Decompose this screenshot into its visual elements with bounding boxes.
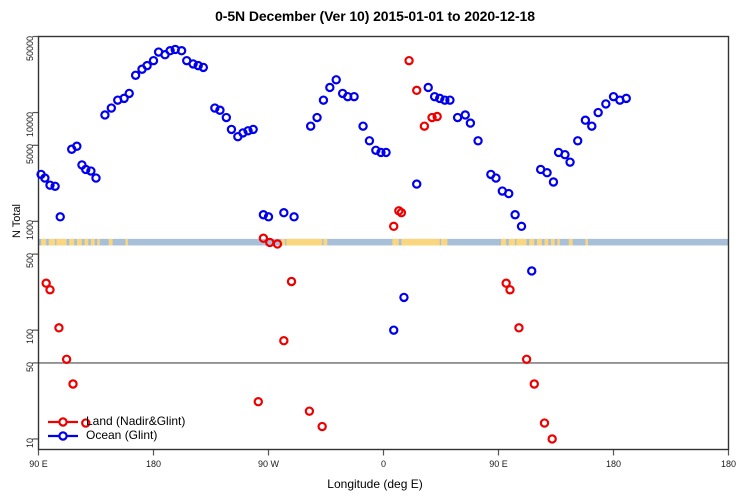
- data-point: [290, 213, 297, 220]
- data-point: [223, 114, 230, 121]
- data-point: [425, 84, 432, 91]
- x-tick-label: 90 E: [469, 459, 529, 469]
- data-point: [108, 104, 115, 111]
- data-point: [561, 151, 568, 158]
- y-tick-label: 5000: [25, 144, 35, 180]
- data-point: [549, 435, 556, 442]
- data-point: [200, 64, 207, 71]
- data-point: [623, 95, 630, 102]
- data-point: [255, 398, 262, 405]
- data-point: [454, 114, 461, 121]
- data-point: [515, 324, 522, 331]
- data-point: [434, 113, 441, 120]
- y-tick-label: 100: [25, 329, 35, 365]
- chart-legend: [48, 418, 78, 439]
- data-point: [505, 190, 512, 197]
- data-point: [574, 137, 581, 144]
- data-point: [87, 167, 94, 174]
- data-point: [351, 93, 358, 100]
- data-point: [52, 183, 59, 190]
- data-point: [390, 327, 397, 334]
- data-point: [400, 294, 407, 301]
- legend-marker: [59, 432, 66, 439]
- data-point: [313, 114, 320, 121]
- data-point: [250, 126, 257, 133]
- data-point: [446, 97, 453, 104]
- data-point: [528, 267, 535, 274]
- y-tick-label: 1000: [25, 220, 35, 256]
- data-point: [462, 111, 469, 118]
- data-point: [228, 126, 235, 133]
- data-point: [265, 213, 272, 220]
- data-point: [288, 278, 295, 285]
- data-point: [382, 149, 389, 156]
- data-point: [359, 123, 366, 130]
- data-point: [390, 223, 397, 230]
- data-point: [541, 419, 548, 426]
- data-point: [582, 117, 589, 124]
- x-tick-label: 180: [699, 459, 750, 469]
- data-point: [523, 356, 530, 363]
- legend-marker: [59, 418, 66, 425]
- data-point: [518, 223, 525, 230]
- y-tick-label: 50000: [25, 36, 35, 72]
- x-tick-label: 180: [584, 459, 644, 469]
- data-point: [531, 380, 538, 387]
- legend-entry-label: Land (Nadir&Glint): [86, 414, 185, 428]
- data-point: [216, 107, 223, 114]
- data-point: [405, 57, 412, 64]
- data-point: [280, 209, 287, 216]
- data-point: [602, 100, 609, 107]
- x-tick-label: 180: [124, 459, 184, 469]
- data-point: [150, 57, 157, 64]
- y-tick-label: 10000: [25, 112, 35, 148]
- data-point: [595, 109, 602, 116]
- data-point: [69, 380, 76, 387]
- data-point: [101, 111, 108, 118]
- data-point: [178, 47, 185, 54]
- data-point: [366, 137, 373, 144]
- data-point: [566, 159, 573, 166]
- data-point: [588, 123, 595, 130]
- data-point: [55, 324, 62, 331]
- data-point: [280, 337, 287, 344]
- data-point: [63, 356, 70, 363]
- x-tick-label: 90 E: [9, 459, 69, 469]
- chart-figure: 0-5N December (Ver 10) 2015-01-01 to 202…: [0, 0, 750, 500]
- data-point: [550, 178, 557, 185]
- legend-entry-label: Ocean (Glint): [86, 428, 157, 442]
- data-point: [474, 137, 481, 144]
- data-point: [492, 174, 499, 181]
- series-land: [43, 57, 556, 443]
- x-tick-label: 0: [354, 459, 414, 469]
- data-point: [506, 286, 513, 293]
- data-point: [333, 76, 340, 83]
- data-point: [73, 143, 80, 150]
- y-tick-label: 50: [25, 362, 35, 398]
- data-point: [467, 119, 474, 126]
- y-tick-label: 500: [25, 253, 35, 289]
- data-point: [320, 97, 327, 104]
- data-point: [306, 408, 313, 415]
- data-point: [413, 180, 420, 187]
- data-point: [46, 286, 53, 293]
- data-point: [307, 123, 314, 130]
- x-tick-label: 90 W: [239, 459, 299, 469]
- data-point: [421, 123, 428, 130]
- data-point: [126, 90, 133, 97]
- data-point: [41, 174, 48, 181]
- data-point: [413, 87, 420, 94]
- data-point: [132, 72, 139, 79]
- data-point: [543, 169, 550, 176]
- data-point: [57, 213, 64, 220]
- world-map-band: [39, 239, 729, 246]
- data-point: [326, 84, 333, 91]
- data-point: [512, 211, 519, 218]
- data-point: [319, 423, 326, 430]
- data-point: [92, 174, 99, 181]
- series-ocean: [37, 46, 629, 334]
- y-tick-label: 10: [25, 438, 35, 474]
